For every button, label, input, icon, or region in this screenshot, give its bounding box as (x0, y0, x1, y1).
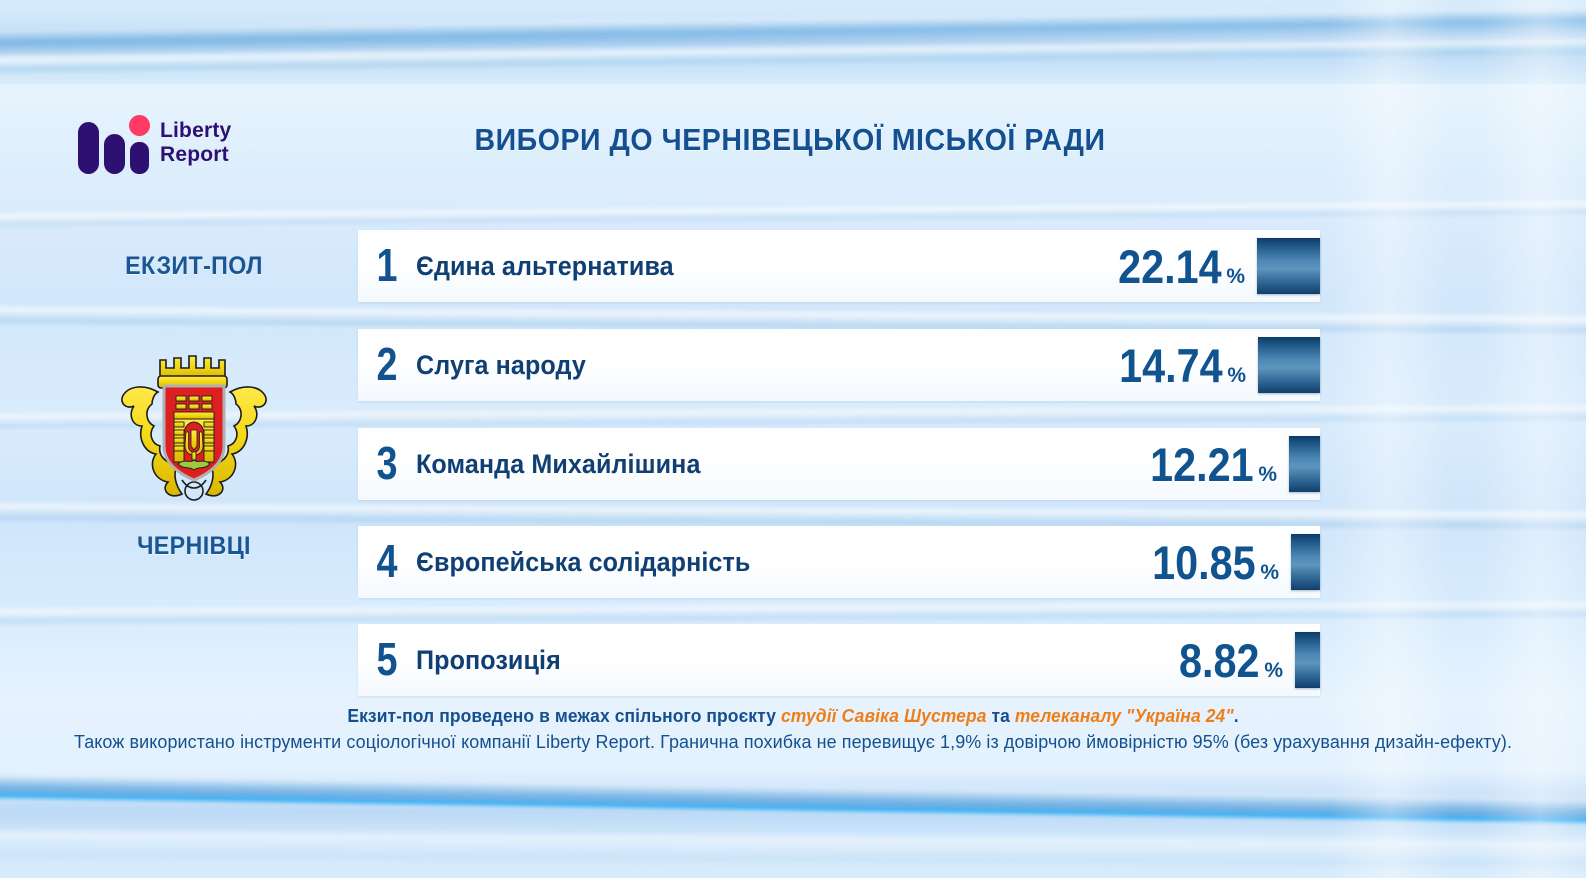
result-bar (1257, 238, 1320, 294)
page-title: ВИБОРИ ДО ЧЕРНІВЕЦЬКОЇ МІСЬКОЇ РАДИ (459, 122, 1121, 158)
percent-sign: % (1227, 364, 1246, 388)
background-wave-bottom-1 (0, 772, 1586, 821)
percent-sign: % (1260, 561, 1279, 585)
footer-highlight-1: студії Савіка Шустера (781, 706, 987, 726)
party-name: Європейська солідарність (416, 547, 1087, 578)
percent-sign: % (1264, 659, 1283, 683)
footer-note: Екзит-пол проведено в межах спільного пр… (0, 703, 1586, 755)
percent-value: 12.21 (1150, 441, 1254, 488)
footer-text-1: Екзит-пол проведено в межах спільного пр… (347, 706, 781, 726)
value-group: 10.85 % (1138, 539, 1279, 586)
logo-bar-1 (78, 122, 99, 174)
background-wave-row-5 (0, 602, 1586, 624)
result-bar (1291, 534, 1320, 590)
party-name: Єдина альтернатива (416, 251, 1056, 282)
footer-text-2: та (987, 706, 1015, 726)
logo-bar-3 (130, 142, 149, 174)
result-bar (1295, 632, 1320, 688)
result-row: 2 Слуга народу 14.74 % (358, 329, 1320, 401)
result-row: 3 Команда Михайлішина 12.21 % (358, 428, 1320, 500)
liberty-report-logo: Liberty Report (78, 112, 231, 174)
value-group: 8.82 % (1168, 637, 1283, 684)
footer-highlight-2: телеканалу "Україна 24" (1015, 706, 1234, 726)
chernivtsi-coat-of-arms-icon (108, 334, 280, 504)
logo-bar-2 (104, 134, 125, 174)
value-group: 14.74 % (1105, 342, 1246, 389)
infographic-stage: Liberty Report ВИБОРИ ДО ЧЕРНІВЕЦЬКОЇ МІ… (0, 0, 1586, 878)
rank-number: 3 (363, 440, 411, 486)
logo-text-line1: Liberty (160, 119, 231, 143)
rank-number: 1 (363, 242, 411, 288)
logo-wordmark: Liberty Report (160, 119, 231, 167)
result-bar (1258, 337, 1320, 393)
percent-value: 8.82 (1179, 637, 1260, 684)
percent-value: 10.85 (1152, 539, 1256, 586)
liberty-report-logo-icon (78, 112, 148, 174)
background-wave-top-1 (0, 6, 1586, 60)
rank-number: 2 (363, 341, 411, 387)
result-bar (1289, 436, 1320, 492)
background-wave-bottom-3 (0, 831, 1586, 868)
background-wave-row-4 (0, 503, 1586, 528)
result-row: 1 Єдина альтернатива 22.14 % (358, 230, 1320, 302)
percent-sign: % (1226, 265, 1245, 289)
city-label: ЧЕРНІВЦІ (88, 532, 300, 561)
party-name: Команда Михайлішина (416, 449, 1085, 480)
party-name: Слуга народу (416, 350, 1056, 381)
result-row: 5 Пропозиція 8.82 % (358, 624, 1320, 696)
footer-text-3: . (1234, 706, 1239, 726)
value-group: 22.14 % (1104, 243, 1245, 290)
footer-line-1: Екзит-пол проведено в межах спільного пр… (24, 703, 1562, 729)
exit-poll-label: ЕКЗИТ-ПОЛ (88, 252, 300, 281)
background-wave-top-2 (0, 37, 1586, 72)
logo-dot-icon (129, 115, 150, 136)
party-name: Пропозиція (416, 645, 1115, 676)
background-wave-bottom-2 (0, 792, 1586, 827)
footer-line-2: Також використано інструменти соціологіч… (24, 729, 1562, 755)
percent-value: 22.14 (1118, 243, 1222, 290)
rank-number: 5 (363, 636, 411, 682)
percent-value: 14.74 (1119, 342, 1223, 389)
logo-text-line2: Report (160, 143, 231, 167)
background-wave-row-1 (0, 201, 1586, 227)
percent-sign: % (1258, 463, 1277, 487)
value-group: 12.21 % (1136, 441, 1277, 488)
rank-number: 4 (363, 538, 411, 584)
result-row: 4 Європейська солідарність 10.85 % (358, 526, 1320, 598)
